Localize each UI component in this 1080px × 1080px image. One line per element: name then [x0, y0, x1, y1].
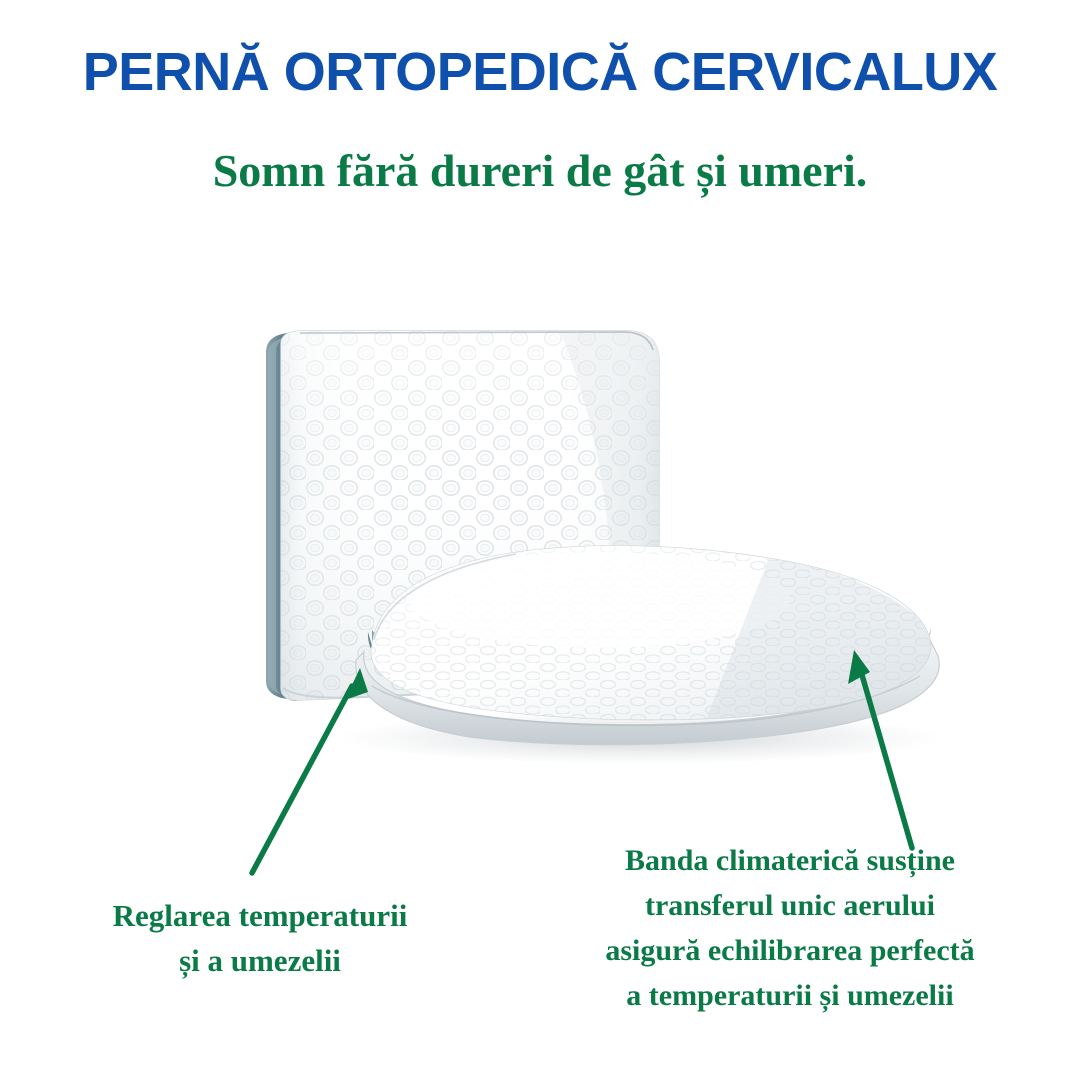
callout-right-line-1: Banda climaterică susține — [512, 838, 1068, 883]
callout-right-line-2: transferul unic aerului — [512, 883, 1068, 928]
callout-left-line-2: și a umezelii — [20, 938, 500, 983]
callout-label-right: Banda climaterică susține transferul uni… — [512, 838, 1068, 1018]
poster-canvas: PERNĂ ORTOPEDICĂ CERVICALUX Somn fără du… — [0, 0, 1080, 1080]
callout-left-line-1: Reglarea temperaturii — [20, 893, 500, 938]
callout-right-line-4: a temperaturii și umezelii — [512, 973, 1068, 1018]
callout-right-line-3: asigură echilibrarea perfectă — [512, 928, 1068, 973]
callout-label-left: Reglarea temperaturii și a umezelii — [20, 893, 500, 983]
